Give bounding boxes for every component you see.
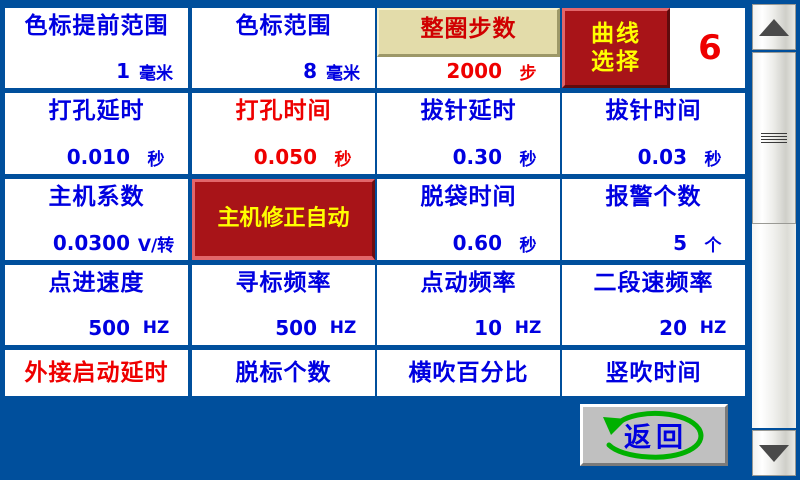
param-cell-alarm-count[interactable]: 报警个数5个 — [562, 179, 745, 260]
param-label: 整圈步数 — [377, 14, 560, 44]
vertical-scrollbar[interactable] — [752, 4, 796, 476]
param-unit: 秒 — [130, 145, 182, 170]
scrollbar-thumb[interactable] — [752, 52, 796, 224]
param-label: 报警个数 — [562, 182, 745, 212]
param-value[interactable]: 0.010 — [67, 145, 130, 169]
param-cell-horizontal-blow-percentage[interactable]: 横吹百分比 — [377, 350, 560, 396]
triangle-up-icon — [759, 19, 789, 36]
scroll-up-button[interactable] — [752, 4, 796, 50]
param-value-row: 10HZ — [377, 315, 560, 341]
param-cell-jog-frequency[interactable]: 点动频率10HZ — [377, 265, 560, 345]
param-cell-external-start-delay[interactable]: 外接启动延时 — [5, 350, 188, 396]
param-label: 横吹百分比 — [377, 358, 560, 388]
param-label: 打孔延时 — [5, 96, 188, 126]
param-value[interactable]: 8 — [303, 59, 317, 83]
param-cell-mark-search-frequency[interactable]: 寻标频率500HZ — [192, 265, 375, 345]
param-label-line: 选择 — [591, 48, 641, 76]
param-unit: HZ — [317, 318, 369, 338]
triangle-down-icon — [759, 445, 789, 462]
param-cell-full-turn-steps[interactable]: 整圈步数2000步 — [377, 8, 560, 88]
param-cell-needle-pull-time[interactable]: 拔针时间0.03秒 — [562, 93, 745, 174]
param-label: 点动频率 — [377, 268, 560, 298]
param-unit: 秒 — [317, 145, 369, 170]
param-label: 主机系数 — [5, 182, 188, 212]
param-value[interactable]: 0.03 — [638, 145, 687, 169]
param-cell-color-mark-advance-range[interactable]: 色标提前范围1毫米 — [5, 8, 188, 88]
param-label: 脱袋时间 — [377, 182, 560, 212]
param-label: 二段速频率 — [562, 268, 745, 298]
param-label: 色标范围 — [192, 11, 375, 41]
param-value[interactable]: 10 — [474, 316, 502, 340]
param-value-row: 2000步 — [377, 58, 560, 84]
param-value-row: 5个 — [562, 230, 745, 256]
param-unit: 秒 — [502, 231, 554, 256]
hmi-screen: 色标提前范围1毫米色标范围8毫米整圈步数2000步曲线选择6打孔延时0.010秒… — [0, 0, 800, 480]
param-value-row: 0.010秒 — [5, 144, 188, 170]
param-label: 主机修正自动 — [217, 204, 349, 234]
param-unit: 秒 — [502, 145, 554, 170]
param-value-row: 500HZ — [192, 315, 375, 341]
param-cell-needle-pull-delay[interactable]: 拔针延时0.30秒 — [377, 93, 560, 174]
param-value[interactable]: 2000 — [446, 59, 502, 83]
curve-selection-button[interactable]: 曲线选择 — [562, 8, 670, 88]
param-value[interactable]: 0.60 — [453, 231, 502, 255]
param-label: 脱标个数 — [192, 358, 375, 388]
param-label-line: 曲线 — [591, 20, 641, 48]
param-label: 拔针延时 — [377, 96, 560, 126]
scrollbar-track[interactable] — [752, 52, 796, 428]
param-value[interactable]: 0.050 — [254, 145, 317, 169]
param-unit: 个 — [687, 231, 739, 256]
param-label: 打孔时间 — [192, 96, 375, 126]
param-value-row: 20HZ — [562, 315, 745, 341]
param-unit: 秒 — [687, 145, 739, 170]
param-cell-curve-selection[interactable]: 曲线选择6 — [562, 8, 745, 88]
param-label: 寻标频率 — [192, 268, 375, 298]
param-cell-host-correction-auto[interactable]: 主机修正自动 — [192, 179, 375, 260]
param-value[interactable]: 5 — [673, 231, 687, 255]
param-value-row: 0.050秒 — [192, 144, 375, 170]
param-cell-mark-loss-count[interactable]: 脱标个数 — [192, 350, 375, 396]
parameter-grid: 色标提前范围1毫米色标范围8毫米整圈步数2000步曲线选择6打孔延时0.010秒… — [5, 8, 745, 396]
param-value[interactable]: 500 — [88, 316, 130, 340]
param-cell-punch-delay[interactable]: 打孔延时0.010秒 — [5, 93, 188, 174]
param-value-row: 1毫米 — [5, 58, 188, 84]
param-value-row: 0.0300V/转 — [5, 230, 188, 256]
return-button[interactable]: 返回 — [580, 404, 728, 466]
param-unit: 毫米 — [317, 59, 369, 84]
grip-lines-icon — [761, 133, 787, 144]
param-value[interactable]: 1 — [116, 59, 130, 83]
param-value-row: 0.03秒 — [562, 144, 745, 170]
param-cell-jog-speed[interactable]: 点进速度500HZ — [5, 265, 188, 345]
param-value[interactable]: 500 — [275, 316, 317, 340]
param-value-row: 500HZ — [5, 315, 188, 341]
param-cell-punch-time[interactable]: 打孔时间0.050秒 — [192, 93, 375, 174]
param-unit: V/转 — [130, 231, 182, 256]
param-cell-host-coefficient[interactable]: 主机系数0.0300V/转 — [5, 179, 188, 260]
param-value[interactable]: 6 — [675, 8, 745, 88]
param-unit: 步 — [502, 59, 554, 84]
return-button-label: 返回 — [583, 416, 725, 455]
scroll-down-button[interactable] — [752, 430, 796, 476]
param-unit: HZ — [502, 318, 554, 338]
param-unit: 毫米 — [130, 59, 182, 84]
param-label: 拔针时间 — [562, 96, 745, 126]
param-cell-color-mark-range[interactable]: 色标范围8毫米 — [192, 8, 375, 88]
param-unit: HZ — [130, 318, 182, 338]
param-value[interactable]: 0.0300 — [53, 231, 130, 255]
param-value-row: 8毫米 — [192, 58, 375, 84]
param-value-row: 0.30秒 — [377, 144, 560, 170]
param-label: 点进速度 — [5, 268, 188, 298]
param-label: 外接启动延时 — [5, 358, 188, 388]
param-value[interactable]: 20 — [659, 316, 687, 340]
param-value-row: 0.60秒 — [377, 230, 560, 256]
param-unit: HZ — [687, 318, 739, 338]
param-label: 竖吹时间 — [562, 358, 745, 388]
param-value[interactable]: 0.30 — [453, 145, 502, 169]
param-label: 色标提前范围 — [5, 11, 188, 41]
param-cell-bag-release-time[interactable]: 脱袋时间0.60秒 — [377, 179, 560, 260]
param-cell-vertical-blow-time[interactable]: 竖吹时间 — [562, 350, 745, 396]
param-cell-second-stage-speed-frequency[interactable]: 二段速频率20HZ — [562, 265, 745, 345]
